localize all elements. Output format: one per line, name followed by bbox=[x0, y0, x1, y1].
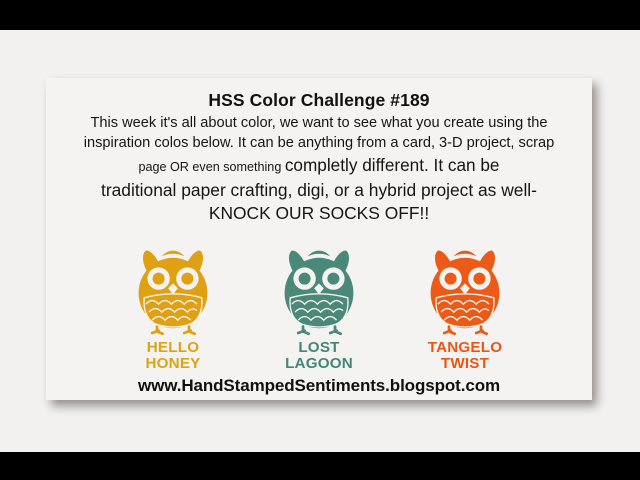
body-line-3: page OR even something completly differe… bbox=[56, 154, 582, 178]
page-title: HSS Color Challenge #189 bbox=[46, 90, 592, 111]
swatch-label-hello-honey: HELLO HONEY bbox=[145, 340, 200, 373]
swatch-label-line-1: TANGELO bbox=[428, 340, 503, 356]
site-url: www.HandStampedSentiments.blogspot.com bbox=[46, 376, 592, 396]
owl-icon bbox=[125, 248, 221, 338]
color-swatch-lost-lagoon: LOST LAGOON bbox=[260, 248, 378, 373]
swatch-label-line-2: TWIST bbox=[428, 356, 503, 372]
card-content: HSS Color Challenge #189 This week it's … bbox=[46, 90, 592, 412]
body-line-4: traditional paper crafting, digi, or a h… bbox=[56, 179, 582, 202]
color-swatch-row: HELLO HONEY bbox=[46, 248, 592, 373]
owl-icon bbox=[417, 248, 513, 338]
letterbox-bar-bottom bbox=[0, 452, 640, 480]
swatch-label-line-1: HELLO bbox=[145, 340, 200, 356]
image-canvas: HSS Color Challenge #189 This week it's … bbox=[0, 0, 640, 480]
photo-area: HSS Color Challenge #189 This week it's … bbox=[0, 30, 640, 452]
body-copy: This week it's all about color, we want … bbox=[56, 114, 582, 225]
swatch-label-line-2: HONEY bbox=[145, 356, 200, 372]
swatch-label-line-2: LAGOON bbox=[285, 356, 353, 372]
swatch-label-lost-lagoon: LOST LAGOON bbox=[285, 340, 353, 373]
body-line-3-small: page OR even something bbox=[139, 160, 285, 174]
body-line-1: This week it's all about color, we want … bbox=[56, 114, 582, 133]
color-swatch-hello-honey: HELLO HONEY bbox=[114, 248, 232, 373]
challenge-card: HSS Color Challenge #189 This week it's … bbox=[46, 78, 592, 400]
body-line-3-large: completly different. It can be bbox=[285, 155, 500, 175]
color-swatch-tangelo-twist: TANGELO TWIST bbox=[406, 248, 524, 373]
body-line-5: KNOCK OUR SOCKS OFF!! bbox=[56, 202, 582, 225]
swatch-label-line-1: LOST bbox=[285, 340, 353, 356]
body-line-2: inspiration colos below. It can be anyth… bbox=[56, 134, 582, 153]
swatch-label-tangelo-twist: TANGELO TWIST bbox=[428, 340, 503, 373]
letterbox-bar-top bbox=[0, 0, 640, 30]
owl-icon bbox=[271, 248, 367, 338]
